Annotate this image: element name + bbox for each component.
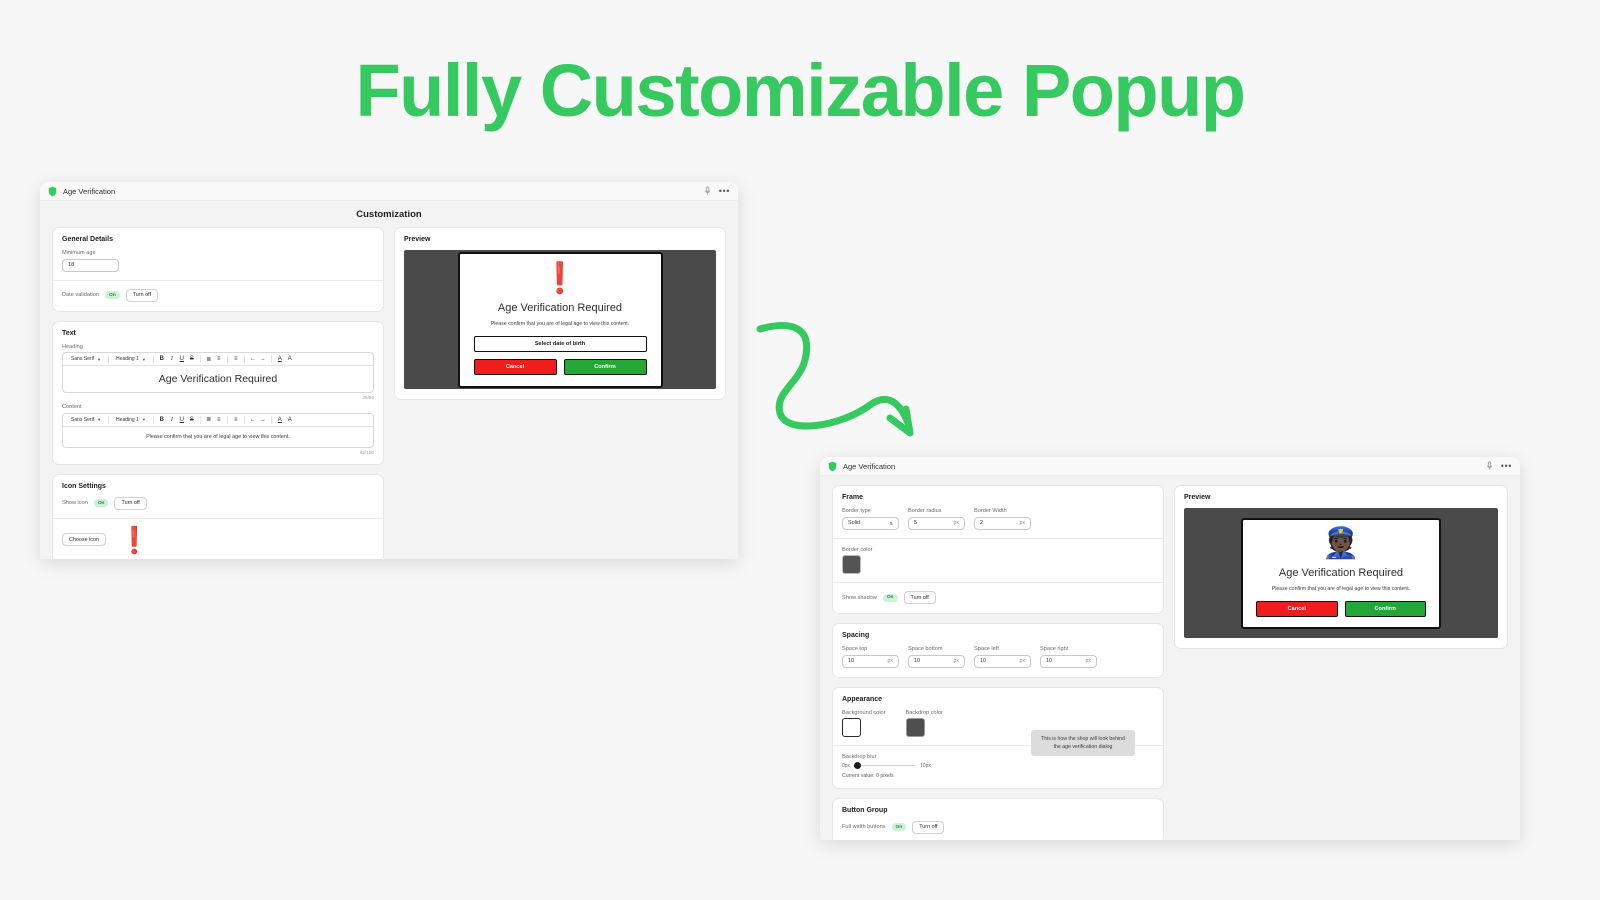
space-bottom-label: Space bottom [908, 646, 965, 652]
spacing-fields-row: Space top 10 px Space bottom 10 [842, 646, 1154, 668]
divider [108, 416, 109, 424]
show-shadow-row: Show shadow On Turn off [842, 591, 1154, 604]
pin-icon[interactable] [1485, 461, 1494, 471]
preview-two-label: Preview [1184, 494, 1498, 501]
curved-arrow [748, 305, 933, 450]
indent-icon[interactable]: → [258, 417, 268, 423]
window-one-actions: ••• [703, 186, 730, 196]
show-shadow-status-badge: On [883, 594, 898, 602]
dialog-heading: Age Verification Required [474, 302, 647, 314]
date-validation-label: Date validation [62, 292, 99, 298]
indent-icon[interactable]: → [258, 356, 268, 362]
card-spacing: Spacing Space top 10 px Space bottom [832, 623, 1164, 678]
content-field-label: Content [62, 404, 374, 410]
minimum-age-input[interactable]: 18 [62, 259, 119, 272]
window-one-title: Age Verification [63, 187, 115, 196]
space-right-input[interactable]: 10 px [1040, 655, 1097, 668]
pin-icon[interactable] [703, 186, 712, 196]
space-top-unit: px [888, 658, 893, 664]
space-bottom-field: Space bottom 10 px [908, 646, 965, 668]
chevron-down-icon: ▼ [97, 417, 101, 422]
heading-field-label: Heading [62, 344, 374, 350]
divider [200, 416, 201, 424]
card-preview-one: Preview ❗ Age Verification Required Plea… [394, 227, 726, 400]
heading-editor[interactable]: Sans Serif▼ Heading 1▼ B I U S ≣ ≡ [62, 352, 374, 393]
text-section-title: Text [62, 330, 374, 337]
clear-format-icon[interactable]: A [285, 356, 295, 362]
space-left-value: 10 [980, 658, 986, 664]
border-radius-label: Border radius [908, 508, 965, 514]
more-options-icon[interactable]: ••• [719, 188, 730, 194]
underline-icon[interactable]: U [177, 356, 187, 362]
chevron-down-icon: ▼ [142, 417, 146, 422]
settings-column: General Details Minimum age 18 Date vali… [52, 227, 384, 559]
border-width-field: Border Width 2 px [974, 508, 1031, 530]
space-top-field: Space top 10 px [842, 646, 899, 668]
backdrop-color-label: Backdrop color [906, 710, 943, 716]
divider [833, 538, 1163, 539]
divider [227, 355, 228, 363]
window-two-columns: Frame Border type Solid ⇅ Border radius [820, 476, 1520, 840]
date-validation-row: Date validation On Turn off [62, 289, 374, 302]
space-left-unit: px [1020, 658, 1025, 664]
dialog-subtext: Please confirm that you are of legal age… [1256, 586, 1426, 592]
border-width-unit: px [1020, 520, 1025, 526]
select-date-of-birth-button[interactable]: Select date of birth [474, 336, 647, 352]
divider [53, 280, 383, 281]
backdrop-preview-tooltip: This is how the shop will look behind th… [1031, 730, 1135, 756]
divider [108, 355, 109, 363]
card-icon-settings: Icon Settings Show icon On Turn off Choo… [52, 474, 384, 560]
border-width-input[interactable]: 2 px [974, 517, 1031, 530]
window-two-body: Frame Border type Solid ⇅ Border radius [820, 476, 1520, 840]
backdrop-color-swatch[interactable] [906, 718, 925, 737]
text-color-icon[interactable]: A [275, 417, 285, 423]
shield-icon [828, 461, 837, 472]
divider [244, 355, 245, 363]
backdrop-color-field: Backdrop color [906, 710, 943, 738]
align-icon[interactable]: ≡ [231, 356, 241, 362]
border-type-label: Border type [842, 508, 899, 514]
border-radius-input[interactable]: 5 px [908, 517, 965, 530]
show-icon-turn-off-button[interactable]: Turn off [114, 497, 146, 510]
divider [153, 355, 154, 363]
bold-icon[interactable]: B [157, 356, 167, 362]
window-one-body: Customization General Details Minimum ag… [40, 201, 738, 559]
shield-icon [48, 186, 57, 197]
window-style-settings: Age Verification ••• Frame Border [820, 457, 1520, 840]
heading-character-counter: 25/50 [62, 395, 374, 400]
text-color-icon[interactable]: A [275, 356, 285, 362]
border-color-label: Border color [842, 547, 1154, 553]
confirm-button[interactable]: Confirm [1345, 601, 1427, 617]
space-right-field: Space right 10 px [1040, 646, 1097, 668]
window-customization: Age Verification ••• Customization Gener… [40, 182, 738, 559]
space-left-label: Space left [974, 646, 1031, 652]
choose-icon-row: Choose icon ❗ [62, 527, 374, 553]
outdent-icon[interactable]: ← [248, 417, 258, 423]
card-preview-two: Preview 👮🏿 Age Verification Required Ple… [1174, 485, 1508, 649]
button-group-title: Button Group [842, 807, 1154, 814]
slider-track[interactable] [855, 765, 915, 767]
card-button-group: Button Group Full width buttons On Turn … [832, 798, 1164, 841]
space-top-input[interactable]: 10 px [842, 655, 899, 668]
date-validation-status-badge: On [105, 291, 120, 299]
stepper-icon: ⇅ [890, 521, 893, 526]
cancel-button[interactable]: Cancel [474, 359, 557, 375]
background-color-field: Background color [842, 710, 886, 738]
window-one-columns: General Details Minimum age 18 Date vali… [40, 227, 738, 559]
space-bottom-value: 10 [914, 658, 920, 664]
italic-icon[interactable]: I [167, 356, 177, 362]
card-frame: Frame Border type Solid ⇅ Border radius [832, 485, 1164, 614]
bullet-list-icon[interactable]: ≣ [204, 416, 214, 423]
confirm-button[interactable]: Confirm [564, 359, 647, 375]
blur-max-label: 10px [920, 763, 931, 769]
page-stage: Fully Customizable Popup Age Verificatio… [0, 0, 1600, 900]
space-right-value: 10 [1046, 658, 1052, 664]
content-editor[interactable]: Sans Serif▼ Heading 1▼ B I U S ≣ ≡ [62, 413, 374, 448]
general-details-title: General Details [62, 236, 374, 243]
show-icon-label: Show icon [62, 500, 88, 506]
border-width-label: Border Width [974, 508, 1031, 514]
show-icon-status-badge: On [94, 499, 109, 507]
window-two-header: Age Verification ••• [820, 457, 1520, 476]
show-shadow-label: Show shadow [842, 595, 877, 601]
preview-one-label: Preview [404, 236, 716, 243]
card-general-details: General Details Minimum age 18 Date vali… [52, 227, 384, 312]
border-type-select[interactable]: Solid ⇅ [842, 517, 899, 530]
more-options-icon[interactable]: ••• [1501, 463, 1512, 469]
border-radius-field: Border radius 5 px [908, 508, 965, 530]
divider [227, 416, 228, 424]
border-color-swatch[interactable] [842, 555, 861, 574]
numbered-list-icon[interactable]: ≡ [214, 356, 224, 362]
strikethrough-icon[interactable]: S [187, 417, 197, 423]
italic-icon[interactable]: I [167, 417, 177, 423]
content-text-value: Please confirm that you are of legal age… [69, 434, 367, 440]
section-heading-customization: Customization [40, 201, 738, 227]
selected-icon-preview: ❗ [118, 527, 150, 553]
frame-fields-row: Border type Solid ⇅ Border radius 5 [842, 508, 1154, 530]
font-family-select[interactable]: Sans Serif▼ [67, 356, 105, 362]
outdent-icon[interactable]: ← [248, 356, 258, 362]
bullet-list-icon[interactable]: ≣ [204, 356, 214, 363]
border-width-value: 2 [980, 520, 983, 526]
dialog-button-row: Cancel Confirm [474, 359, 647, 375]
backdrop-blur-current-value: Current value: 0 pixels [842, 773, 1154, 779]
show-icon-row: Show icon On Turn off [62, 497, 374, 510]
preview-two-dialog: 👮🏿 Age Verification Required Please conf… [1241, 518, 1441, 629]
chevron-down-icon: ▼ [142, 357, 146, 362]
space-top-value: 10 [848, 658, 854, 664]
slider-knob[interactable] [854, 762, 861, 769]
dialog-heading: Age Verification Required [1256, 567, 1426, 579]
space-right-label: Space right [1040, 646, 1097, 652]
dialog-button-row: Cancel Confirm [1256, 601, 1426, 617]
date-validation-turn-off-button[interactable]: Turn off [126, 289, 158, 302]
backdrop-blur-slider[interactable]: 0px 10px [842, 763, 1154, 769]
blur-min-label: 0px [842, 763, 850, 769]
background-color-swatch[interactable] [842, 718, 861, 737]
border-type-field: Border type Solid ⇅ [842, 508, 899, 530]
content-character-counter: 62/150 [62, 450, 374, 455]
clear-format-icon[interactable]: A [285, 417, 295, 423]
divider [200, 355, 201, 363]
spacing-title: Spacing [842, 632, 1154, 639]
card-appearance: Appearance Background color Backdrop col… [832, 687, 1164, 789]
underline-icon[interactable]: U [177, 417, 187, 423]
divider [244, 416, 245, 424]
block-style-select[interactable]: Heading 1▼ [112, 356, 150, 362]
content-editor-toolbar: Sans Serif▼ Heading 1▼ B I U S ≣ ≡ [63, 414, 373, 427]
full-width-status-badge: On [892, 823, 907, 831]
space-top-label: Space top [842, 646, 899, 652]
window-two-actions: ••• [1485, 461, 1512, 471]
icon-settings-title: Icon Settings [62, 483, 374, 490]
font-family-select[interactable]: Sans Serif▼ [67, 417, 105, 423]
heading-text-value: Age Verification Required [69, 373, 367, 385]
divider [271, 416, 272, 424]
preview-two-column: Preview 👮🏿 Age Verification Required Ple… [1174, 485, 1508, 649]
background-color-label: Background color [842, 710, 886, 716]
dialog-icon: ❗ [474, 264, 647, 294]
frame-title: Frame [842, 494, 1154, 501]
appearance-title: Appearance [842, 696, 1154, 703]
full-width-buttons-row: Full width buttons On Turn off [842, 821, 1154, 834]
chevron-down-icon: ▼ [97, 357, 101, 362]
space-left-input[interactable]: 10 px [974, 655, 1031, 668]
numbered-list-icon[interactable]: ≡ [214, 417, 224, 423]
card-text: Text Heading Sans Serif▼ Heading 1▼ B I … [52, 321, 384, 465]
border-radius-value: 5 [914, 520, 917, 526]
space-right-unit: px [1086, 658, 1091, 664]
border-type-value: Solid [848, 520, 860, 526]
content-editor-body[interactable]: Please confirm that you are of legal age… [63, 427, 373, 447]
block-style-select[interactable]: Heading 1▼ [112, 417, 150, 423]
divider [271, 355, 272, 363]
align-icon[interactable]: ≡ [231, 417, 241, 423]
space-bottom-unit: px [954, 658, 959, 664]
dialog-subtext: Please confirm that you are of legal age… [474, 321, 647, 327]
full-width-buttons-label: Full width buttons [842, 824, 886, 830]
preview-one-dialog: ❗ Age Verification Required Please confi… [458, 252, 663, 388]
space-bottom-input[interactable]: 10 px [908, 655, 965, 668]
show-shadow-turn-off-button[interactable]: Turn off [904, 591, 936, 604]
full-width-turn-off-button[interactable]: Turn off [912, 821, 944, 834]
window-two-title: Age Verification [843, 462, 895, 471]
space-left-field: Space left 10 px [974, 646, 1031, 668]
preview-one-stage: ❗ Age Verification Required Please confi… [404, 250, 716, 389]
choose-icon-button[interactable]: Choose icon [62, 533, 106, 546]
divider [153, 416, 154, 424]
heading-editor-toolbar: Sans Serif▼ Heading 1▼ B I U S ≣ ≡ [63, 353, 373, 366]
style-settings-column: Frame Border type Solid ⇅ Border radius [832, 485, 1164, 840]
divider [833, 582, 1163, 583]
page-title: Fully Customizable Popup [0, 48, 1600, 133]
border-radius-unit: px [954, 520, 959, 526]
strikethrough-icon[interactable]: S [187, 356, 197, 362]
divider [53, 518, 383, 519]
heading-editor-body[interactable]: Age Verification Required [63, 366, 373, 392]
minimum-age-label: Minimum age [62, 250, 374, 256]
window-one-header: Age Verification ••• [40, 182, 738, 201]
preview-two-stage: 👮🏿 Age Verification Required Please conf… [1184, 508, 1498, 638]
dialog-icon: 👮🏿 [1256, 529, 1426, 559]
cancel-button[interactable]: Cancel [1256, 601, 1338, 617]
preview-column: Preview ❗ Age Verification Required Plea… [394, 227, 726, 400]
bold-icon[interactable]: B [157, 417, 167, 423]
